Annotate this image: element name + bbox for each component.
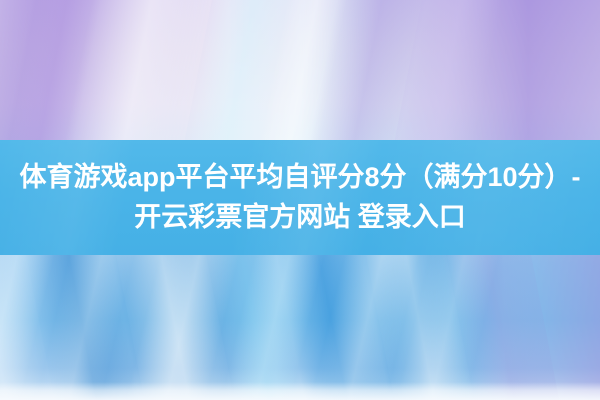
banner-title-line-2: 开云彩票官方网站 登录入口: [134, 198, 466, 237]
background-bottom-tint: [0, 250, 600, 400]
title-banner-strip: 体育游戏app平台平均自评分8分（满分10分）- 开云彩票官方网站 登录入口: [0, 140, 600, 255]
background-top-tint: [0, 0, 600, 150]
banner-title-line-1: 体育游戏app平台平均自评分8分（满分10分）-: [19, 158, 580, 197]
banner-graphic: 体育游戏app平台平均自评分8分（满分10分）- 开云彩票官方网站 登录入口: [0, 0, 600, 400]
